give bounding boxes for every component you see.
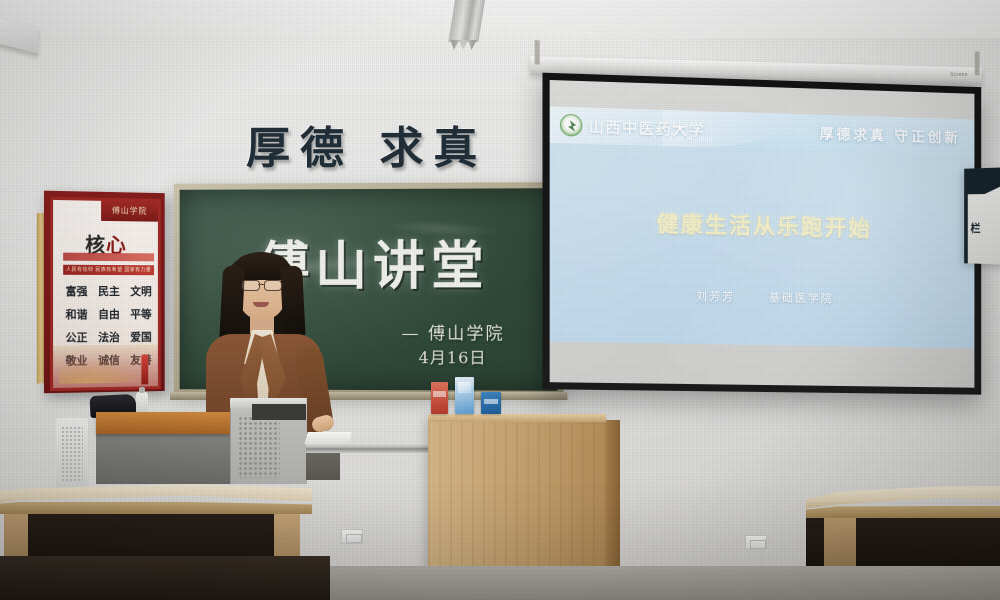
red-box-item xyxy=(431,382,448,414)
glasses-bridge xyxy=(258,284,264,285)
console-wood-top xyxy=(96,412,230,434)
presenter-department: 基础医学院 xyxy=(769,291,833,305)
screen-bracket-left xyxy=(535,40,540,64)
poster-title-underline xyxy=(63,253,154,262)
classroom-photo: 厚德 求真 傅山学院 核心 人民有信仰 民族有希望 国家有力量 富强 民主 文明… xyxy=(0,0,1000,600)
poster-footer-graphic xyxy=(53,345,158,388)
value-item: 民主 xyxy=(94,283,124,299)
slide-motto: 厚德求真 守正创新 xyxy=(820,124,961,148)
poster-pillar-graphic xyxy=(141,355,148,385)
value-item: 文明 xyxy=(126,283,156,299)
mouth xyxy=(253,302,269,307)
value-item: 公正 xyxy=(61,329,92,345)
poster-face: 傅山学院 核心 人民有信仰 民族有希望 国家有力量 富强 民主 文明 和谐 自由… xyxy=(50,197,161,391)
value-item: 爱国 xyxy=(126,329,156,345)
sliding-keyboard-tray[interactable] xyxy=(306,443,442,453)
console-dark-recess xyxy=(252,404,306,420)
wall-sign: 栏 xyxy=(964,167,1000,265)
value-item: 自由 xyxy=(94,306,124,322)
wall-motto-text: 厚德 求真 xyxy=(246,112,487,176)
slide-header: 山西中医药大学 SHANXI UNIVERSITY OF CHINESE MED… xyxy=(550,106,975,155)
value-item: 平等 xyxy=(126,306,156,322)
core-values-poster: 傅山学院 核心 人民有信仰 民族有希望 国家有力量 富强 民主 文明 和谐 自由… xyxy=(48,195,169,397)
wall-sign-text: 栏 xyxy=(970,220,981,236)
console-vent-grille xyxy=(238,416,280,478)
university-emblem-icon xyxy=(560,114,582,137)
slide-byline: 刘芳芳基础医学院 xyxy=(550,285,975,309)
presenter-name: 刘芳芳 xyxy=(696,290,735,304)
ambient-shadow xyxy=(0,480,1000,600)
blue-box-small-item xyxy=(481,392,501,414)
glasses-lens-right xyxy=(264,280,282,291)
screen-case-label: Screen xyxy=(950,72,968,78)
presentation-slide: 山西中医药大学 SHANXI UNIVERSITY OF CHINESE MED… xyxy=(550,106,975,348)
blue-box-item xyxy=(455,377,474,414)
value-item: 和谐 xyxy=(61,306,92,322)
poster-institute-label: 傅山学院 xyxy=(101,201,158,222)
blackboard-date: 4月16日 xyxy=(419,344,487,368)
blackboard-attribution: — 傅山学院 xyxy=(402,319,505,344)
screen-bracket-right xyxy=(975,52,980,76)
projector-screen: 山西中医药大学 SHANXI UNIVERSITY OF CHINESE MED… xyxy=(542,73,981,395)
ceiling xyxy=(0,0,1000,38)
hair-right xyxy=(280,265,306,344)
value-item: 富强 xyxy=(61,283,92,299)
glasses-lens-left xyxy=(242,280,260,291)
cabinet-top-edge xyxy=(428,414,606,422)
console-felt-panel xyxy=(96,434,230,484)
projector-screen-surface: 山西中医药大学 SHANXI UNIVERSITY OF CHINESE MED… xyxy=(550,80,975,388)
value-item: 法治 xyxy=(94,329,124,345)
slide-title: 健康生活从乐跑开始 xyxy=(550,204,975,246)
poster-note-band: 人民有信仰 民族有希望 国家有力量 xyxy=(63,265,154,275)
